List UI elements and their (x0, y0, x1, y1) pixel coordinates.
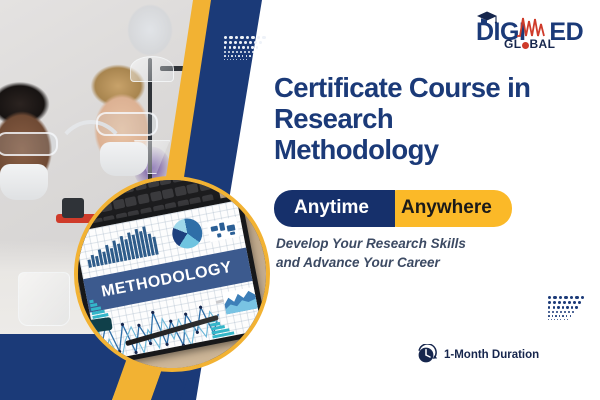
keyboard-key (113, 199, 126, 210)
face-mask-man (0, 164, 48, 200)
keyboard-key (171, 176, 184, 183)
funnel-glass (130, 56, 174, 82)
title-line-3: Methodology (274, 134, 594, 165)
bar (215, 347, 237, 354)
keyboard-key (97, 188, 110, 199)
keyboard-key (122, 182, 135, 193)
keyboard-key (162, 188, 175, 199)
course-promo-banner: METHODOLOGY (0, 0, 600, 400)
badge-anytime[interactable]: Anytime (274, 190, 395, 227)
subtitle: Develop Your Research Skills and Advance… (276, 234, 576, 272)
desk-scene: METHODOLOGY (78, 180, 266, 368)
keyboard-key (186, 183, 199, 194)
subtitle-line-2: and Advance Your Career (276, 253, 576, 272)
bar (217, 356, 231, 361)
keyboard-key (100, 201, 113, 212)
content-column: DIGI ED GL BAL Certificate Course in Res… (268, 0, 600, 400)
heartbeat-ecg-icon (517, 16, 545, 38)
logo-tagline: GL BAL (504, 37, 555, 51)
keyboard-key (88, 204, 101, 215)
keyboard-key (137, 193, 150, 204)
bar (214, 338, 244, 346)
safety-goggles-woman (96, 112, 158, 136)
logo-tagline-part1: GL (504, 37, 521, 51)
duration-label: 1-Month Duration (444, 349, 539, 361)
keyboard-key (134, 180, 147, 191)
clock-history-icon (416, 344, 438, 366)
bar (216, 352, 234, 358)
keyboard-key (76, 206, 89, 217)
keyboard-key (149, 191, 162, 202)
page-title: Certificate Course in Research Methodolo… (274, 72, 594, 165)
dot-grid-top (224, 36, 268, 62)
logo-tagline-part2: BAL (529, 37, 555, 51)
beaker (18, 272, 70, 326)
keyboard-key (174, 186, 187, 197)
title-line-2: Research (274, 103, 594, 134)
keyboard-key (159, 176, 172, 186)
badge-anywhere[interactable]: Anywhere (379, 190, 512, 227)
keyboard-key (125, 196, 138, 207)
bar (89, 300, 93, 303)
bar (215, 342, 241, 349)
keyboard-key (85, 190, 98, 201)
tablet-screen: METHODOLOGY (74, 200, 262, 361)
safety-goggles-man (0, 132, 58, 156)
tablet-circle-inset: METHODOLOGY (74, 176, 270, 372)
title-line-1: Certificate Course in (274, 72, 594, 103)
tablet-device: METHODOLOGY (74, 195, 268, 368)
globe-dot-icon (522, 42, 529, 49)
keyboard-key (199, 180, 212, 191)
keyboard-key (110, 185, 123, 196)
subtitle-line-1: Develop Your Research Skills (276, 234, 576, 253)
face-mask-woman (100, 142, 148, 176)
duration-badge: 1-Month Duration (416, 344, 539, 366)
keyboard-key (147, 177, 160, 188)
digimed-global-logo[interactable]: DIGI ED GL BAL (460, 10, 584, 52)
availability-badges: Anytime Anywhere (274, 190, 512, 227)
